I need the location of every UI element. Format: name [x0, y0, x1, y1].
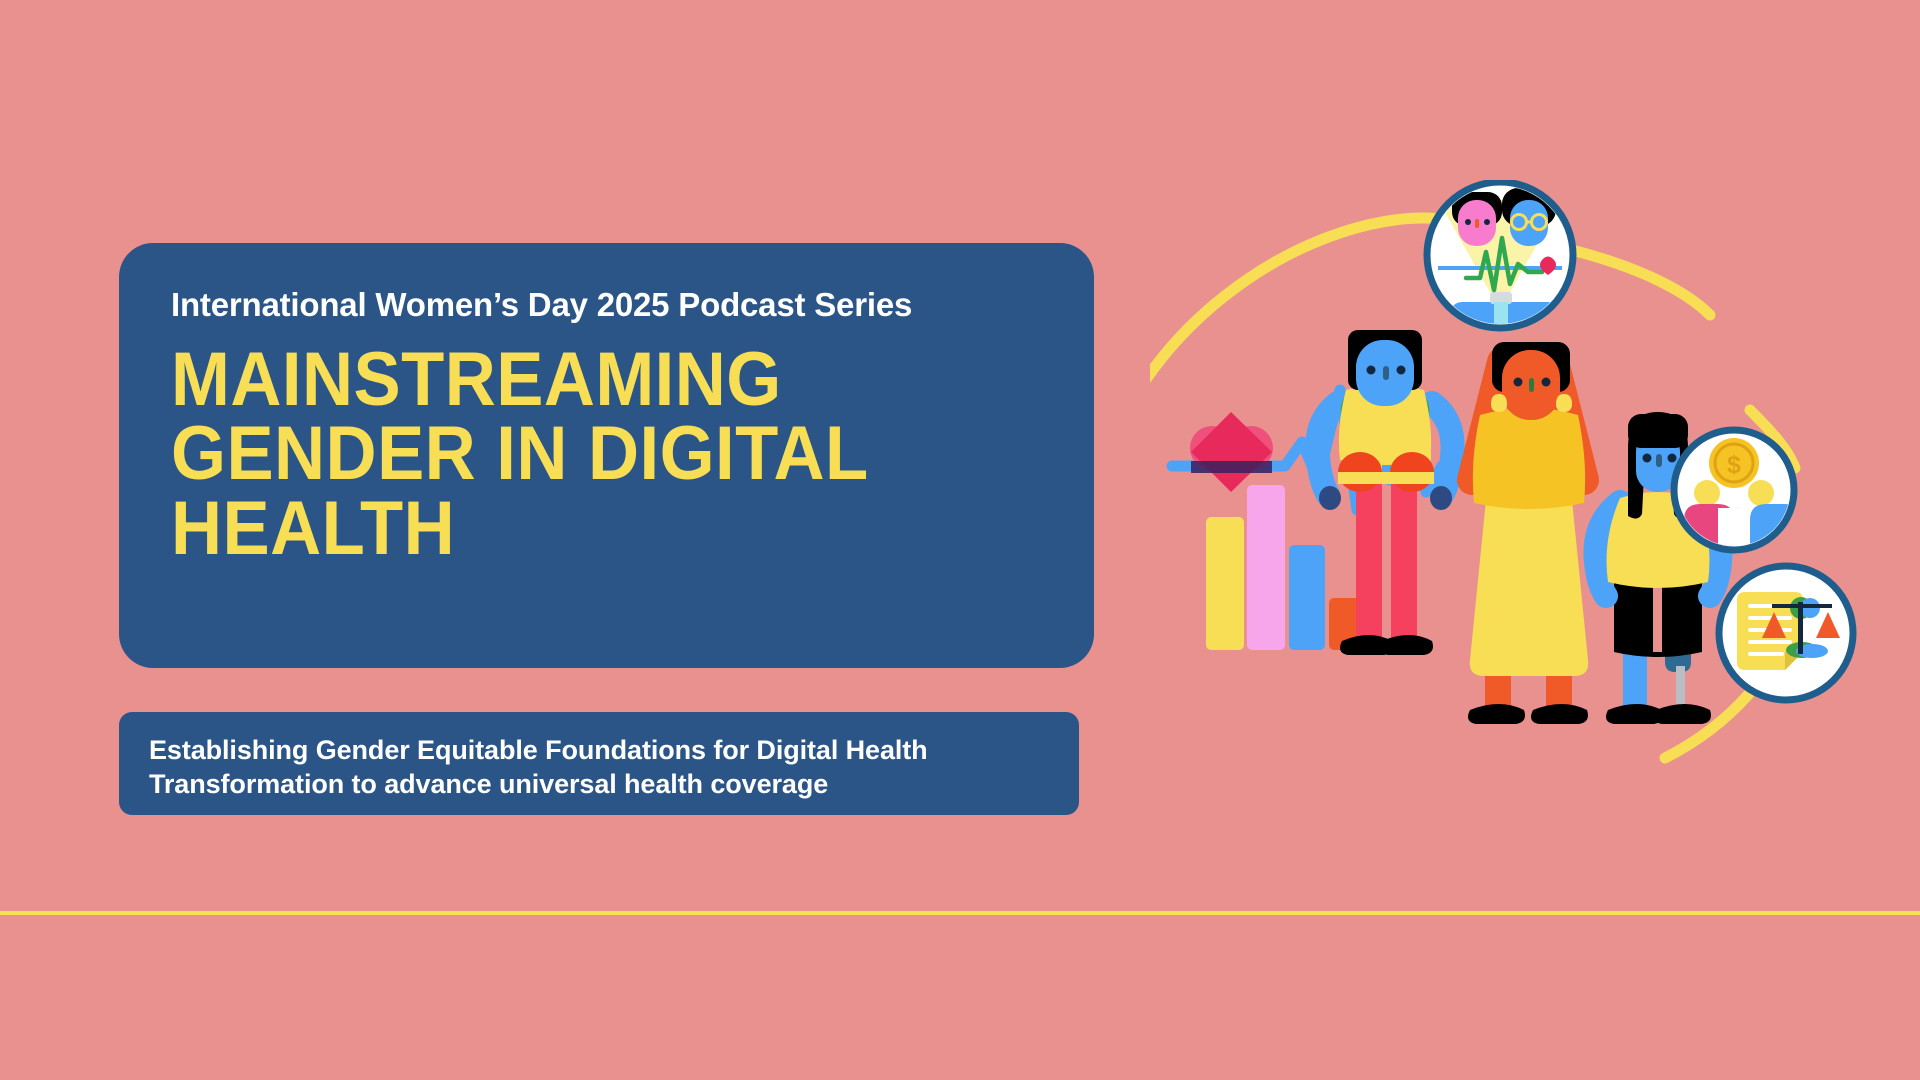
page-title: MAINSTREAMING GENDER IN DIGITAL HEALTH: [171, 343, 983, 566]
illustration-area: $: [1150, 180, 1920, 820]
headline-line-1: MAINSTREAMING: [171, 337, 782, 422]
subtitle-text: Establishing Gender Equitable Foundation…: [149, 733, 1049, 801]
headline-line-3: HEALTH: [171, 486, 455, 571]
health-data-bars: [1206, 485, 1362, 650]
person-with-raised-arms: [1468, 342, 1588, 724]
policy-law-badge: [1719, 566, 1853, 700]
bottom-divider: [0, 911, 1920, 915]
bar-1: [1206, 517, 1244, 650]
svg-text:$: $: [1727, 451, 1741, 479]
heart-icon: [1190, 412, 1273, 492]
bar-2: [1247, 485, 1285, 650]
subtitle-line-2: Transformation to advance universal heal…: [149, 769, 828, 799]
telehealth-consult-badge: [1427, 182, 1573, 328]
headline-line-2: GENDER IN DIGITAL: [171, 411, 869, 496]
subtitle-line-1: Establishing Gender Equitable Foundation…: [149, 735, 928, 765]
eyebrow-text: International Women’s Day 2025 Podcast S…: [171, 285, 1044, 325]
title-card: International Women’s Day 2025 Podcast S…: [119, 243, 1094, 668]
financing-equity-badge: $: [1674, 430, 1800, 550]
poster-canvas: International Women’s Day 2025 Podcast S…: [0, 0, 1920, 1080]
subtitle-card: Establishing Gender Equitable Foundation…: [119, 712, 1079, 815]
bar-3: [1289, 545, 1325, 650]
